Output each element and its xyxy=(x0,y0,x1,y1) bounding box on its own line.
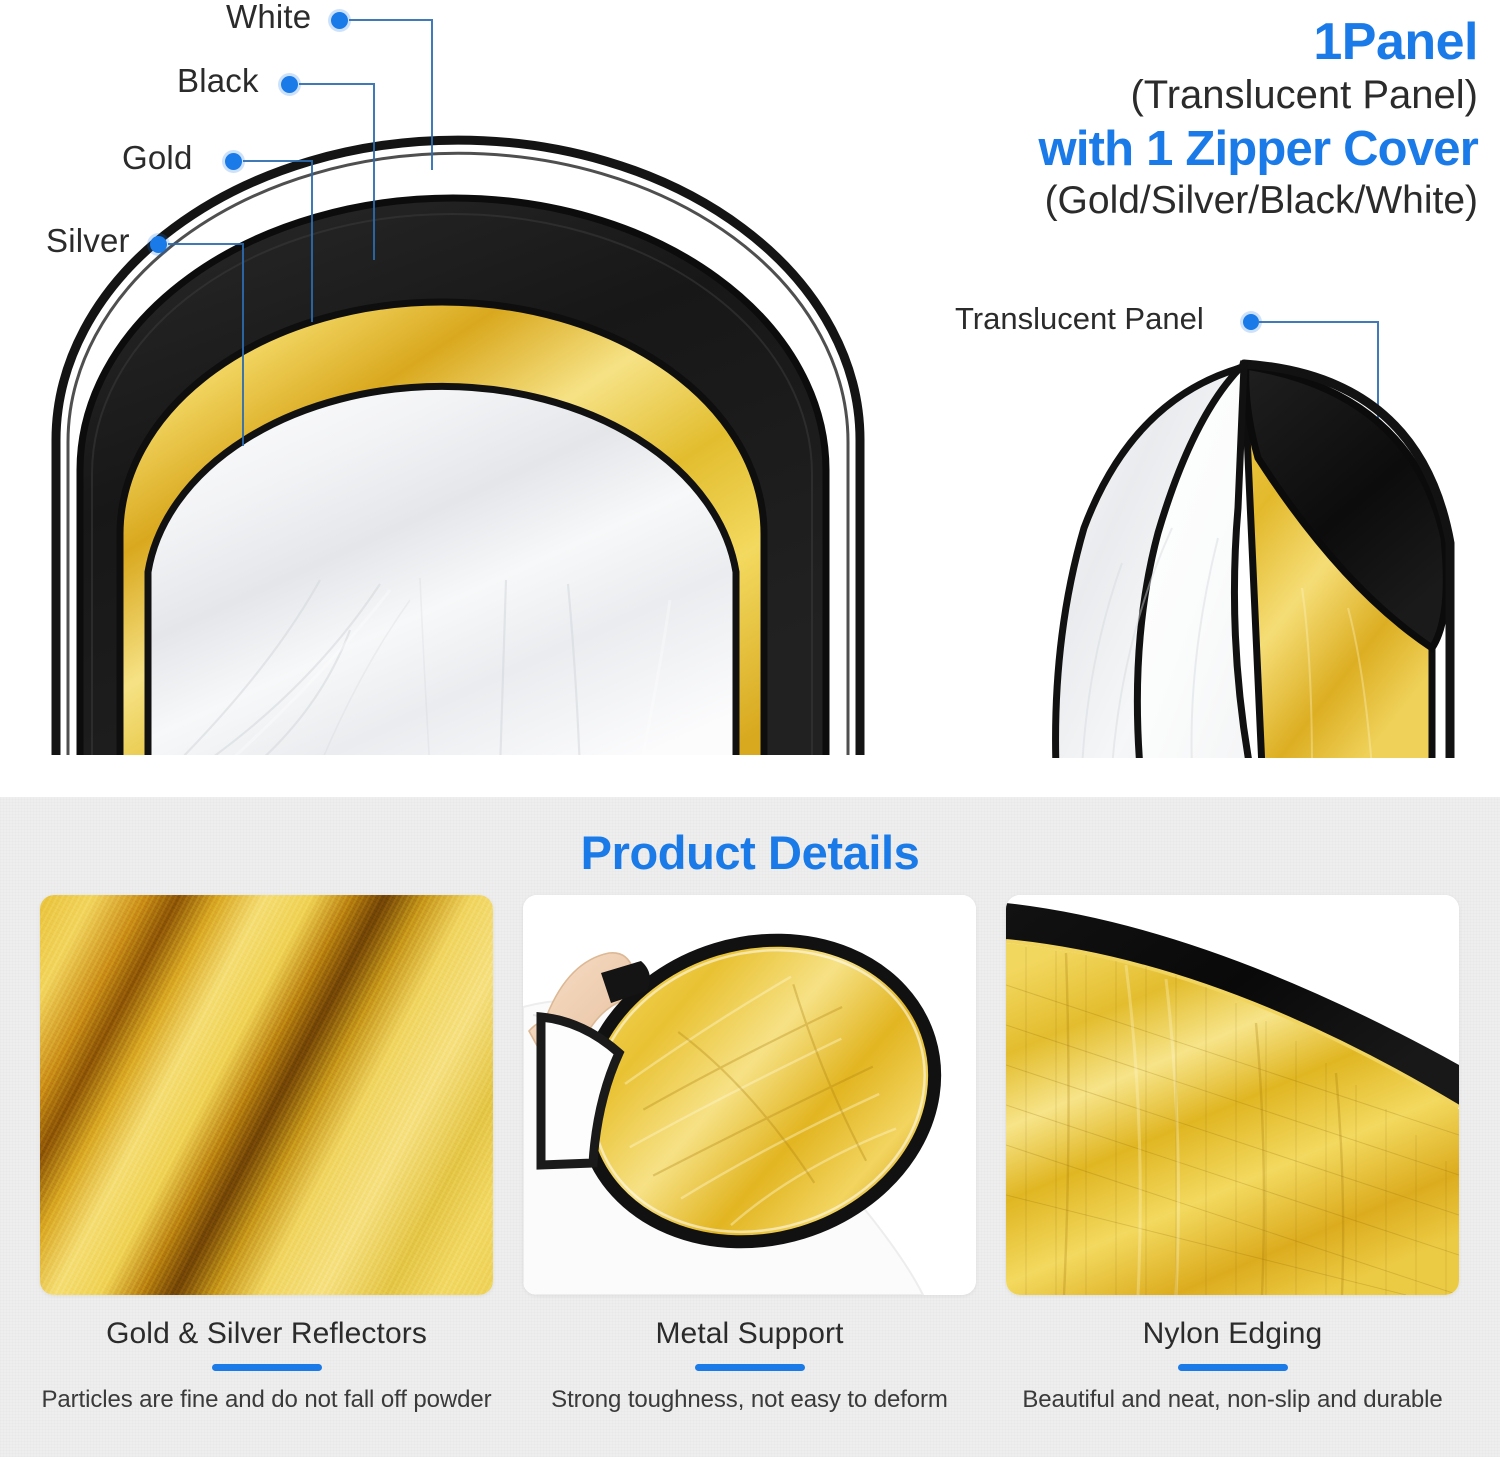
detail-card-desc: Particles are fine and do not fall off p… xyxy=(40,1386,493,1414)
detail-card: Metal Support Strong toughness, not easy… xyxy=(523,895,976,1414)
detail-card-photo-gold-fabric xyxy=(40,895,493,1295)
callout-dot-silver xyxy=(150,236,167,253)
gold-fabric-texture xyxy=(40,895,493,1295)
headline-line-3: with 1 Zipper Cover xyxy=(838,123,1478,176)
headline-line-4: (Gold/Silver/Black/White) xyxy=(838,178,1478,223)
callout-dot-gold xyxy=(225,153,242,170)
detail-card: Gold & Silver Reflectors Particles are f… xyxy=(40,895,493,1414)
callout-dot-translucent-panel xyxy=(1243,314,1259,330)
translucent-panel-illustration xyxy=(1012,338,1472,768)
callout-label-black: Black xyxy=(177,62,259,100)
detail-card-title: Metal Support xyxy=(523,1317,976,1351)
detail-card-desc: Beautiful and neat, non-slip and durable xyxy=(1006,1386,1459,1414)
detail-card-photo-nylon-edging xyxy=(1006,895,1459,1295)
detail-card-caption: Metal Support Strong toughness, not easy… xyxy=(523,1317,976,1414)
product-details-title: Product Details xyxy=(0,825,1500,880)
detail-card: Nylon Edging Beautiful and neat, non-sli… xyxy=(1006,895,1459,1414)
detail-card-title: Gold & Silver Reflectors xyxy=(40,1317,493,1351)
product-details-panel: Product Details Gold & Silver Reflectors… xyxy=(0,797,1500,1457)
headline-line-2: (Translucent Panel) xyxy=(838,72,1478,118)
detail-card-title: Nylon Edging xyxy=(1006,1317,1459,1351)
callout-label-silver: Silver xyxy=(46,222,130,260)
hero-section: White Black Gold Silver 1Panel (Transluc… xyxy=(0,0,1500,797)
callout-label-translucent-panel: Translucent Panel xyxy=(955,301,1204,337)
headline-block: 1Panel (Translucent Panel) with 1 Zipper… xyxy=(838,14,1478,224)
headline-line-1: 1Panel xyxy=(838,14,1478,71)
product-details-cards: Gold & Silver Reflectors Particles are f… xyxy=(40,895,1460,1414)
callout-label-gold: Gold xyxy=(122,139,193,177)
callout-dot-black xyxy=(281,76,298,93)
callout-label-white: White xyxy=(226,0,311,36)
callout-dot-white xyxy=(331,12,348,29)
detail-card-caption: Gold & Silver Reflectors Particles are f… xyxy=(40,1317,493,1414)
detail-card-desc: Strong toughness, not easy to deform xyxy=(523,1386,976,1414)
reflector-stack-illustration xyxy=(20,110,920,770)
detail-card-photo-metal-support xyxy=(523,895,976,1295)
detail-card-rule xyxy=(212,1364,322,1371)
detail-card-caption: Nylon Edging Beautiful and neat, non-sli… xyxy=(1006,1317,1459,1414)
detail-card-rule xyxy=(1178,1364,1288,1371)
detail-card-rule xyxy=(695,1364,805,1371)
